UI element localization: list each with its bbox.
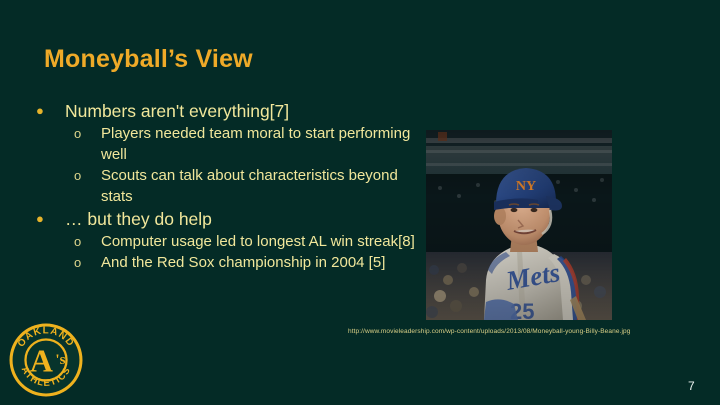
oakland-athletics-logo: OAKLAND ATHLETICS A 's	[8, 322, 84, 398]
list-item-text: Players needed team moral to start perfo…	[101, 123, 426, 165]
bullet-marker-icon: ●	[36, 207, 65, 231]
slide-title: Moneyball’s View	[44, 45, 253, 74]
list-item: ● Numbers aren't everything[7]	[36, 99, 426, 123]
presentation-slide: Moneyball’s View ● Numbers aren't everyt…	[0, 0, 720, 405]
list-item-text: … but they do help	[65, 207, 426, 231]
slide-photo: Mets 25 NY	[426, 130, 612, 320]
svg-text:A: A	[30, 343, 53, 378]
sub-bullet-marker-icon: o	[74, 123, 101, 144]
list-item: o Scouts can talk about characteristics …	[74, 165, 426, 207]
list-item-text: Scouts can talk about characteristics be…	[101, 165, 426, 207]
slide-body-list: ● Numbers aren't everything[7] o Players…	[36, 99, 426, 273]
athletics-badge-icon: OAKLAND ATHLETICS A 's	[8, 322, 84, 398]
page-number: 7	[688, 379, 695, 393]
bullet-marker-icon: ●	[36, 99, 65, 123]
list-item: o Computer usage led to longest AL win s…	[74, 231, 426, 252]
photo-source-caption: http://www.movieleadership.com/wp-conten…	[348, 328, 630, 335]
billy-beane-photo-image: Mets 25 NY	[426, 130, 612, 320]
svg-text:'s: 's	[55, 351, 65, 368]
sub-bullet-marker-icon: o	[74, 165, 101, 186]
list-item-text: And the Red Sox championship in 2004 [5]	[101, 252, 426, 273]
list-item: o And the Red Sox championship in 2004 […	[74, 252, 426, 273]
list-item-text: Computer usage led to longest AL win str…	[101, 231, 426, 252]
sub-bullet-marker-icon: o	[74, 231, 101, 252]
list-item-text: Numbers aren't everything[7]	[65, 99, 426, 123]
list-item: ● … but they do help	[36, 207, 426, 231]
list-item: o Players needed team moral to start per…	[74, 123, 426, 165]
sub-bullet-marker-icon: o	[74, 252, 101, 273]
